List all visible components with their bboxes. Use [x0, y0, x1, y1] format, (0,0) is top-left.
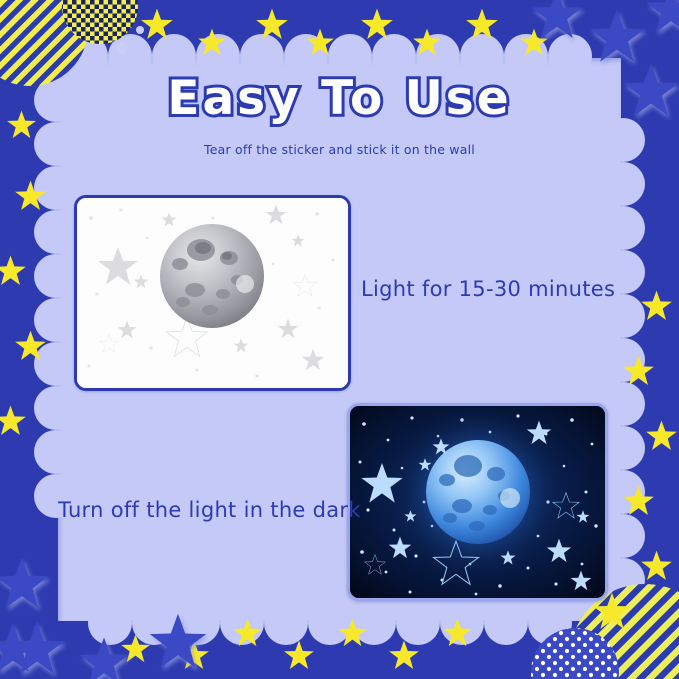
page-title: Easy To Use [58, 74, 621, 123]
moon-sticker [160, 224, 264, 328]
daylight-moon-artwork [77, 198, 348, 388]
title-block: Easy To Use [58, 74, 621, 123]
poster-canvas: Easy To Use Tear off the sticker and sti… [0, 0, 679, 679]
caption-dark-step: Turn off the light in the dark [58, 498, 361, 522]
page-subtitle: Tear off the sticker and stick it on the… [58, 142, 621, 157]
night-moon-artwork [350, 406, 605, 598]
night-moon-card [347, 403, 608, 601]
caption-light-step: Light for 15-30 minutes [361, 277, 615, 301]
daylight-moon-card [74, 195, 351, 391]
poster-content: Easy To Use Tear off the sticker and sti… [58, 58, 621, 621]
